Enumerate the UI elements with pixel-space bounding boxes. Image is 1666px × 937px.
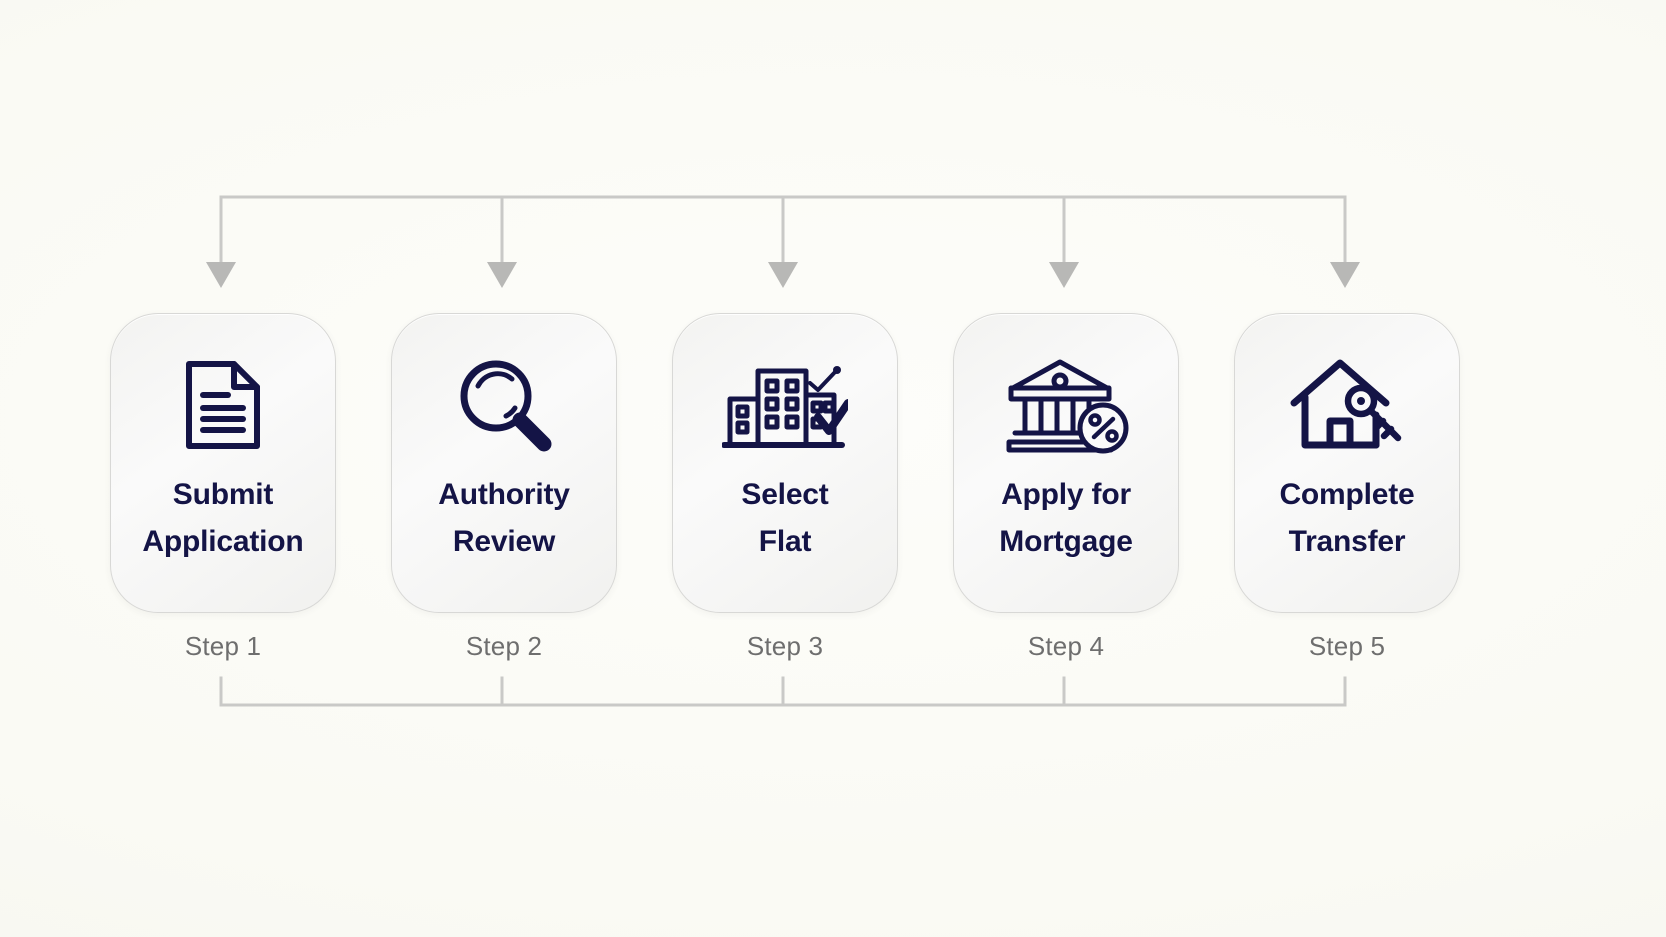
step-number-label-4: Step 4 [953, 631, 1179, 662]
document-lines-icon [158, 352, 288, 458]
step-card-4[interactable]: Apply for Mortgage [953, 313, 1179, 613]
buildings-check-icon [720, 352, 850, 458]
step-card-title-2: Authority Review [401, 472, 607, 566]
step-card-5[interactable]: Complete Transfer [1234, 313, 1460, 613]
step-number-label-5: Step 5 [1234, 631, 1460, 662]
step-number-label-2: Step 2 [391, 631, 617, 662]
step-card-title-4: Apply for Mortgage [963, 472, 1169, 566]
step-card-1[interactable]: Submit Application [110, 313, 336, 613]
step-title-line2-4: Mortgage [963, 519, 1169, 566]
step-title-line1-3: Select [741, 478, 828, 511]
step-card-title-5: Complete Transfer [1244, 472, 1450, 566]
step-title-line1-5: Complete [1279, 478, 1414, 511]
step-title-line1-1: Submit [173, 478, 273, 511]
step-title-line2-3: Flat [682, 519, 888, 566]
step-card-title-3: Select Flat [682, 472, 888, 566]
bank-percent-icon [1001, 352, 1131, 458]
house-key-icon [1282, 352, 1412, 458]
step-card-2[interactable]: Authority Review [391, 313, 617, 613]
step-title-line1-2: Authority [438, 478, 570, 511]
magnifier-icon [439, 352, 569, 458]
step-title-line2-2: Review [401, 519, 607, 566]
step-card-3[interactable]: Select Flat [672, 313, 898, 613]
step-title-line2-1: Application [120, 519, 326, 566]
step-card-title-1: Submit Application [120, 472, 326, 566]
step-number-label-3: Step 3 [672, 631, 898, 662]
step-number-label-1: Step 1 [110, 631, 336, 662]
step-title-line2-5: Transfer [1244, 519, 1450, 566]
step-title-line1-4: Apply for [1001, 478, 1131, 511]
